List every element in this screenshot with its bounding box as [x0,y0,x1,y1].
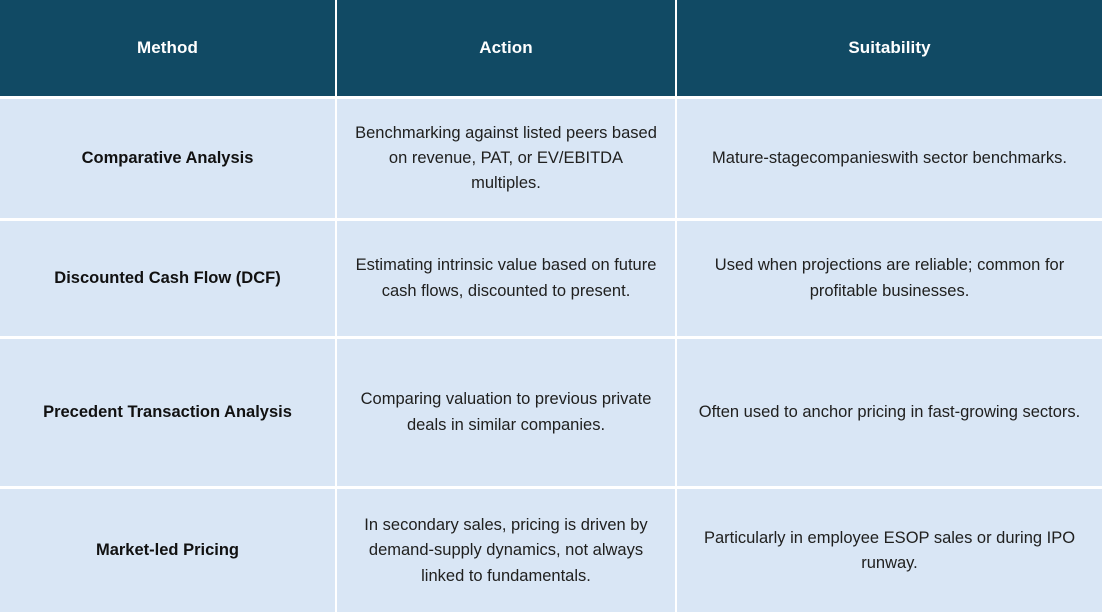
valuation-methods-table: Method Action Suitability Comparative An… [0,0,1102,612]
cell-method: Discounted Cash Flow (DCF) [0,221,337,339]
cell-method: Precedent Transaction Analysis [0,339,337,489]
cell-action: In secondary sales, pricing is driven by… [337,489,677,612]
column-header-suitability: Suitability [677,0,1102,96]
table-body: Comparative Analysis Benchmarking agains… [0,96,1102,612]
cell-action: Comparing valuation to previous private … [337,339,677,489]
cell-method: Market-led Pricing [0,489,337,612]
table-row: Discounted Cash Flow (DCF) Estimating in… [0,221,1102,339]
cell-method: Comparative Analysis [0,96,337,221]
table-header-row: Method Action Suitability [0,0,1102,96]
cell-action: Estimating intrinsic value based on futu… [337,221,677,339]
table-row: Precedent Transaction Analysis Comparing… [0,339,1102,489]
column-header-action: Action [337,0,677,96]
cell-suitability: Often used to anchor pricing in fast-gro… [677,339,1102,489]
valuation-methods-table-container: Method Action Suitability Comparative An… [0,0,1102,612]
table-row: Market-led Pricing In secondary sales, p… [0,489,1102,612]
cell-action: Benchmarking against listed peers based … [337,96,677,221]
table-row: Comparative Analysis Benchmarking agains… [0,96,1102,221]
cell-suitability: Mature-stagecompanieswith sector benchma… [677,96,1102,221]
cell-suitability: Used when projections are reliable; comm… [677,221,1102,339]
column-header-method: Method [0,0,337,96]
cell-suitability: Particularly in employee ESOP sales or d… [677,489,1102,612]
table-header: Method Action Suitability [0,0,1102,96]
